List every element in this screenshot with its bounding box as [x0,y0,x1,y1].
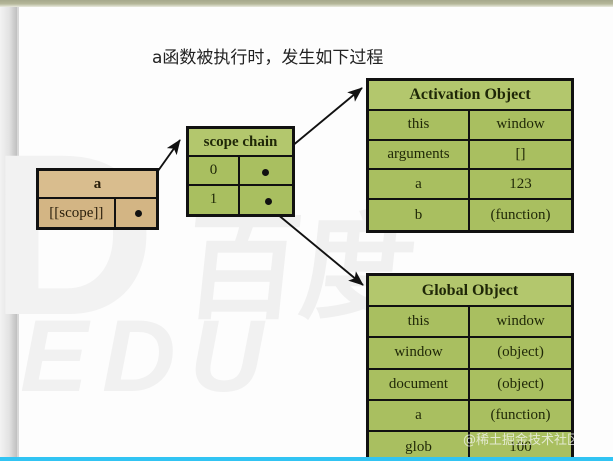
scope-chain-header-row: scope chain [189,129,292,157]
activation-key-arguments: arguments [369,141,470,169]
function-a-scope-label: [[scope]] [39,199,116,227]
pointer-dot-scope [135,210,142,217]
global-key-this: this [369,307,470,336]
pointer-dot-scope-chain-1 [265,198,272,205]
activation-key-a: a [369,170,470,198]
function-a-scope-row: [[scope]] [39,199,156,227]
diagram-title: a函数被执行时，发生如下过程 [152,43,383,68]
scope-chain-index-0: 0 [189,157,240,183]
scope-chain-title: scope chain [189,129,292,155]
top-edge-strip [0,0,613,7]
scope-chain-row-1: 1 [189,186,292,214]
global-key-window: window [369,338,470,367]
global-object-table: Global Object this window window (object… [366,273,574,461]
global-value-this: window [470,307,571,336]
activation-object-title: Activation Object [369,81,571,109]
activation-key-b: b [369,200,470,230]
table-row: document (object) [369,370,571,401]
global-key-document: document [369,370,470,399]
global-object-title: Global Object [369,276,571,305]
scope-chain-box: scope chain 0 1 [186,126,295,217]
global-object-header-row: Global Object [369,276,571,307]
table-row: this window [369,307,571,338]
global-value-window: (object) [470,338,571,367]
diagram-screenshot: D 百度 EDU a函数被执行时，发生如下过程 a [[scope]] scop… [0,0,613,461]
activation-value-b: (function) [470,200,571,230]
activation-value-arguments: [] [470,141,571,169]
scope-chain-index-1: 1 [189,186,240,214]
function-a-name: a [39,171,156,197]
table-row: arguments [] [369,141,571,171]
global-value-a: (function) [470,401,571,430]
table-row: a (function) [369,401,571,432]
table-row: this window [369,111,571,141]
table-row: window (object) [369,338,571,369]
table-row: b (function) [369,200,571,230]
table-row: a 123 [369,170,571,200]
left-edge-strip [0,7,17,461]
activation-object-table: Activation Object this window arguments … [366,78,574,233]
activation-key-this: this [369,111,470,139]
function-a-scope-pointer-cell [116,199,156,227]
left-edge-divider [17,7,19,461]
pointer-dot-scope-chain-0 [262,169,269,176]
activation-object-header-row: Activation Object [369,81,571,111]
function-a-header-row: a [39,171,156,199]
global-value-document: (object) [470,370,571,399]
global-key-a: a [369,401,470,430]
function-a-box: a [[scope]] [36,168,159,230]
scope-chain-row-0: 0 [189,157,292,185]
activation-value-a: 123 [470,170,571,198]
scope-chain-pointer-cell-0 [240,157,292,183]
activation-value-this: window [470,111,571,139]
bottom-accent-strip [0,457,613,461]
scope-chain-pointer-cell-1 [240,186,292,214]
